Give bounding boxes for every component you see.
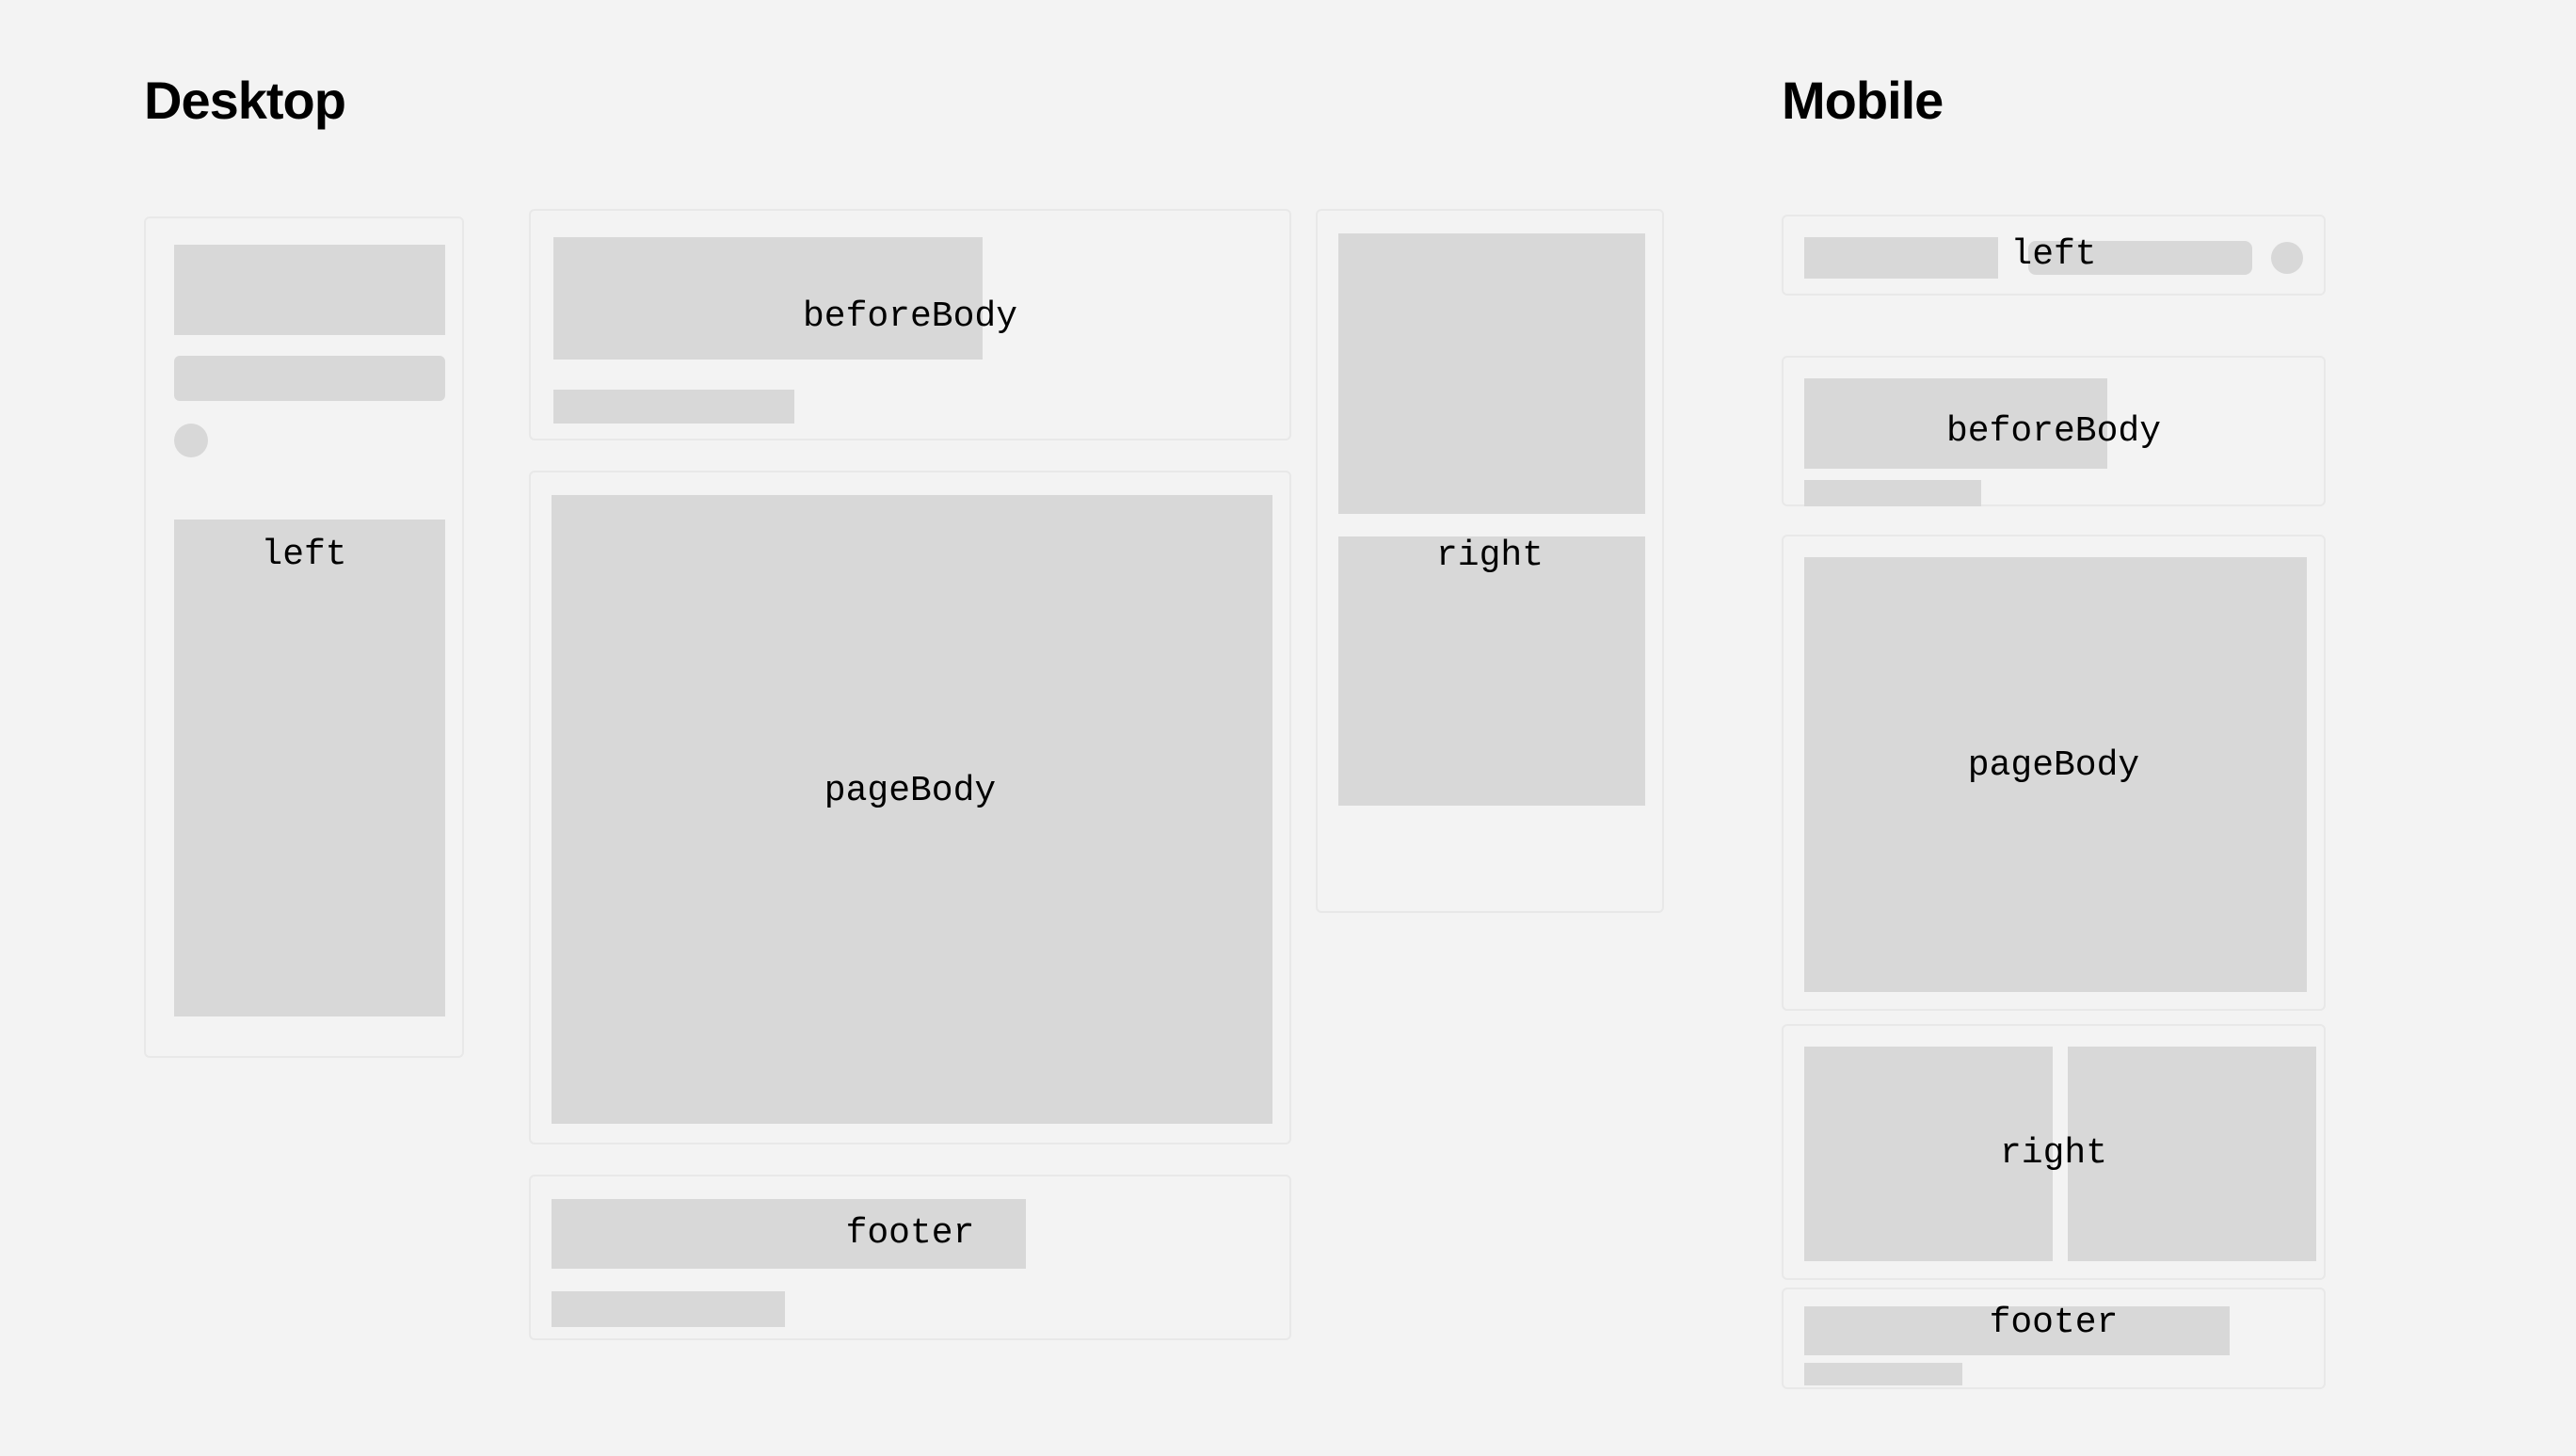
desktop-column-heading: Desktop	[144, 74, 345, 127]
placeholder-bar	[552, 1291, 785, 1327]
placeholder-bar	[553, 390, 794, 424]
placeholder-block	[552, 495, 1272, 1124]
placeholder-bar	[1804, 480, 1981, 506]
placeholder-block	[552, 1199, 1026, 1269]
placeholder-block	[1338, 233, 1645, 514]
placeholder-block	[1804, 237, 1998, 279]
mobile-region-right[interactable]	[1782, 1024, 2326, 1280]
desktop-region-left[interactable]	[144, 216, 464, 1058]
placeholder-block	[174, 245, 445, 335]
mobile-region-footer[interactable]	[1782, 1288, 2326, 1389]
mobile-region-pagebody[interactable]	[1782, 535, 2326, 1011]
placeholder-circle-icon	[174, 424, 208, 457]
placeholder-block	[2068, 1047, 2316, 1261]
desktop-region-footer[interactable]	[529, 1175, 1291, 1340]
placeholder-block	[1804, 1047, 2053, 1261]
placeholder-circle-icon	[2271, 242, 2303, 274]
placeholder-block	[553, 237, 983, 360]
desktop-region-pagebody[interactable]	[529, 471, 1291, 1144]
mobile-region-beforebody[interactable]	[1782, 356, 2326, 506]
placeholder-block	[1338, 536, 1645, 806]
wireframe-preview-canvas: Desktop left beforeBody pageBody footer …	[0, 0, 2576, 1456]
placeholder-block	[1804, 378, 2107, 469]
placeholder-bar	[2028, 241, 2252, 275]
desktop-region-beforebody[interactable]	[529, 209, 1291, 440]
mobile-column-heading: Mobile	[1782, 74, 1943, 127]
placeholder-bar	[1804, 1363, 1962, 1385]
placeholder-block	[174, 520, 445, 1016]
mobile-region-left[interactable]	[1782, 215, 2326, 296]
desktop-region-right[interactable]	[1316, 209, 1664, 913]
placeholder-bar	[174, 356, 445, 401]
placeholder-block	[1804, 1306, 2230, 1355]
placeholder-block	[1804, 557, 2307, 992]
